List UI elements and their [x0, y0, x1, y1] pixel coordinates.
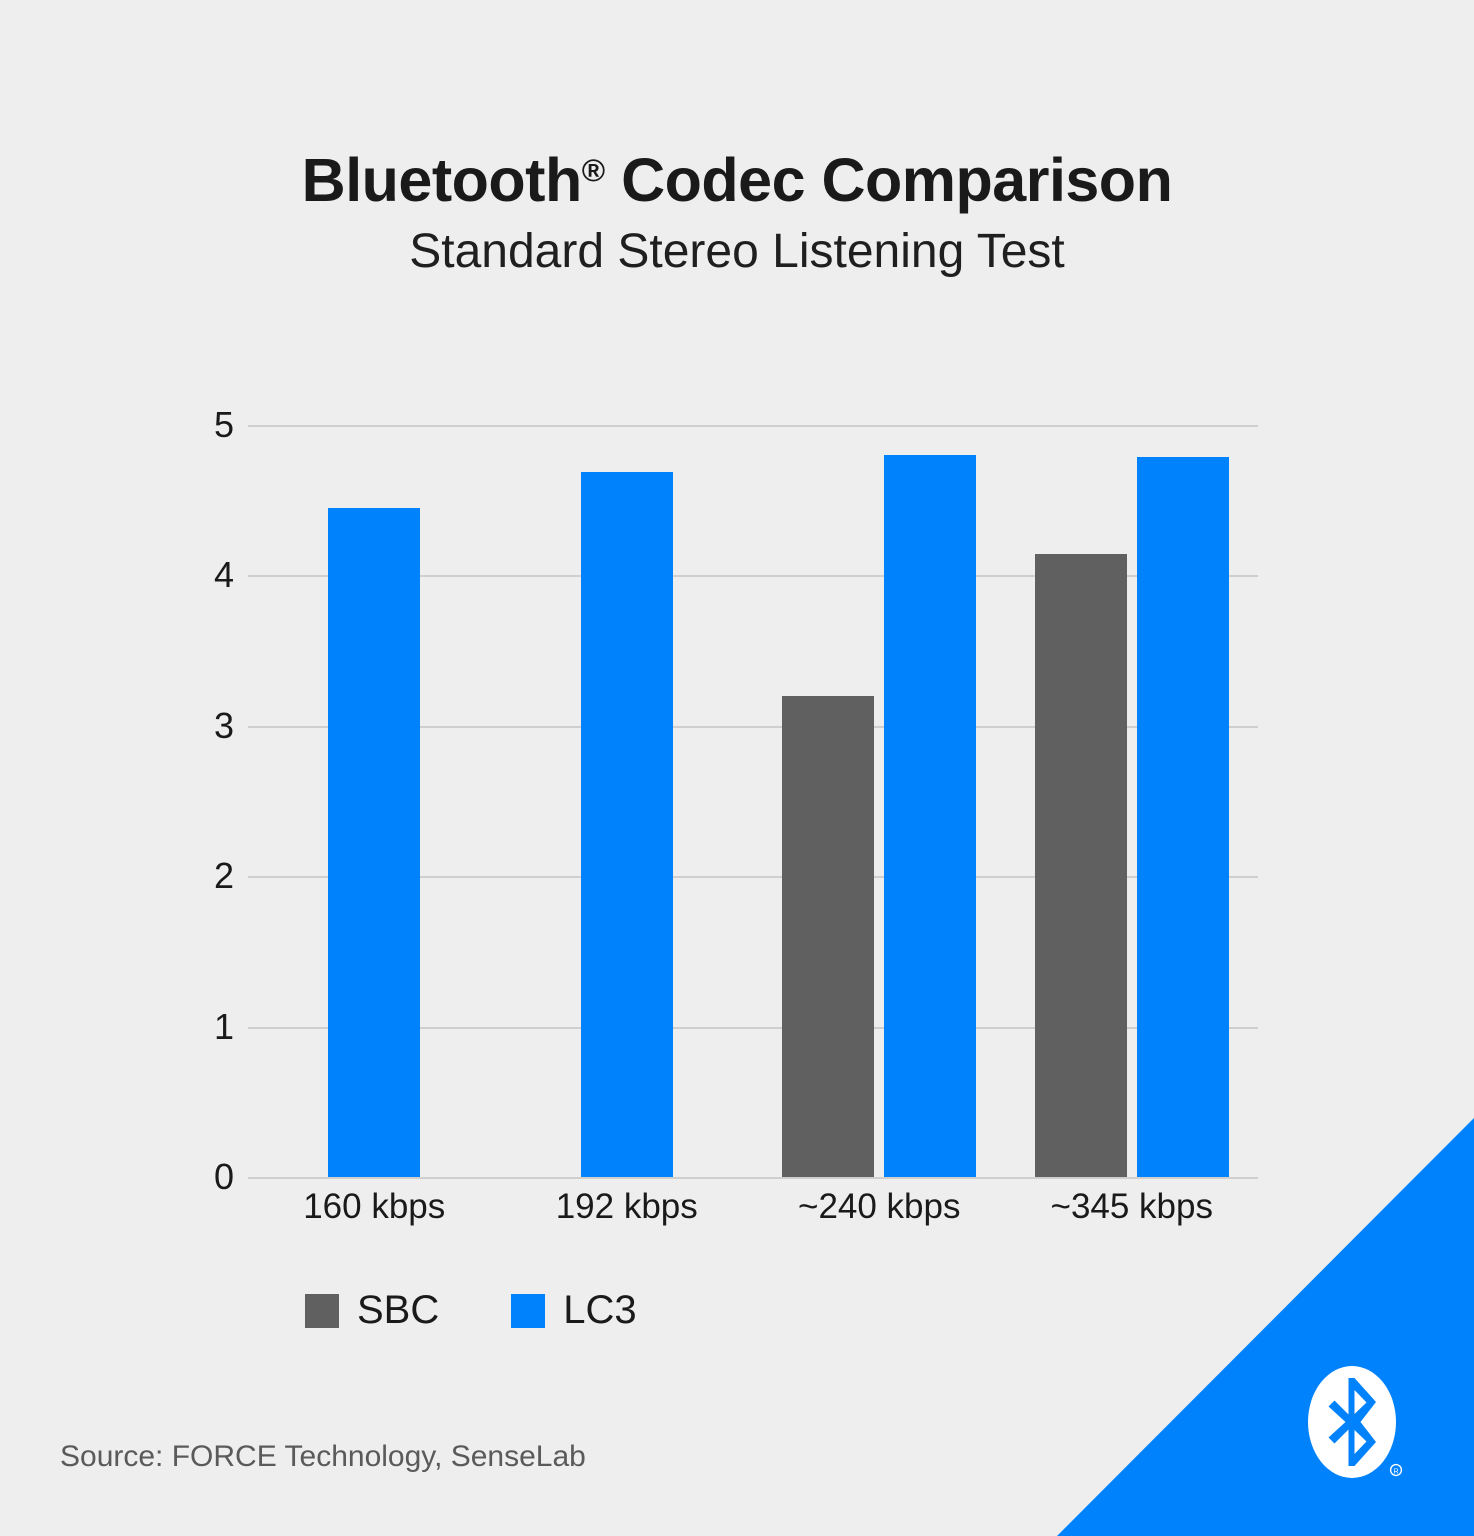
- bar-lc3[interactable]: [581, 472, 673, 1177]
- source-note: Source: FORCE Technology, SenseLab: [60, 1440, 586, 1474]
- bar-lc3[interactable]: [328, 508, 420, 1177]
- title-main-after: Codec Comparison: [605, 146, 1173, 214]
- title-block: Bluetooth® Codec Comparison Standard Ste…: [0, 148, 1474, 279]
- bar-group: [501, 425, 754, 1177]
- legend-label: SBC: [357, 1288, 439, 1333]
- y-axis-tick-label: 1: [154, 1006, 234, 1048]
- page-title: Bluetooth® Codec Comparison: [0, 148, 1474, 212]
- legend-swatch-icon: [305, 1294, 339, 1328]
- bar-groups: [248, 425, 1258, 1177]
- bar-lc3[interactable]: [884, 455, 976, 1177]
- gridline: [248, 1177, 1258, 1179]
- bar-group: [753, 425, 1006, 1177]
- y-axis-tick-label: 5: [154, 404, 234, 446]
- x-axis-label: ~240 kbps: [753, 1187, 1006, 1227]
- bar-group: [248, 425, 501, 1177]
- legend-item-lc3[interactable]: LC3: [511, 1288, 636, 1333]
- legend-label: LC3: [563, 1288, 636, 1333]
- x-axis-label: ~345 kbps: [1006, 1187, 1259, 1227]
- x-axis-label: 192 kbps: [501, 1187, 754, 1227]
- chart-plot-area: 012345 160 kbps192 kbps~240 kbps~345 kbp…: [248, 425, 1258, 1177]
- y-axis-tick-label: 4: [154, 554, 234, 596]
- chart-legend: SBCLC3: [305, 1288, 637, 1333]
- registered-mark: ®: [582, 152, 605, 188]
- x-axis-label: 160 kbps: [248, 1187, 501, 1227]
- bar-sbc[interactable]: [782, 696, 874, 1177]
- page-subtitle: Standard Stereo Listening Test: [0, 226, 1474, 279]
- brand-triangle: [1057, 1118, 1474, 1536]
- brand-corner: R: [1057, 1118, 1474, 1536]
- title-main-before: Bluetooth: [302, 146, 582, 214]
- y-axis-tick-label: 0: [154, 1156, 234, 1198]
- bar-sbc[interactable]: [1035, 554, 1127, 1177]
- bar-lc3[interactable]: [1137, 457, 1229, 1177]
- y-axis-tick-label: 2: [154, 855, 234, 897]
- bluetooth-logo: R: [1308, 1360, 1404, 1488]
- legend-swatch-icon: [511, 1294, 545, 1328]
- legend-item-sbc[interactable]: SBC: [305, 1288, 439, 1333]
- y-axis-tick-label: 3: [154, 705, 234, 747]
- svg-text:R: R: [1393, 1469, 1398, 1476]
- bar-group: [1006, 425, 1259, 1177]
